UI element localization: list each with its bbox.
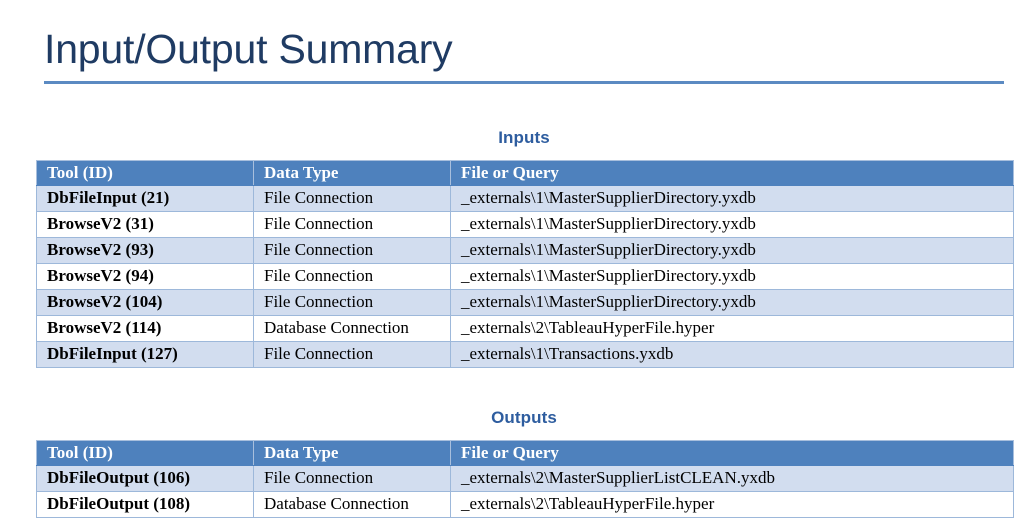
column-header-file: File or Query [451,441,1014,466]
cell-data-type: File Connection [254,212,451,238]
cell-tool: DbFileOutput (108) [37,492,254,518]
title-divider [44,81,1004,84]
cell-file-or-query: _externals\1\MasterSupplierDirectory.yxd… [451,264,1014,290]
column-header-file: File or Query [451,161,1014,186]
inputs-table: Tool (ID) Data Type File or Query DbFile… [36,160,1014,368]
outputs-table: Tool (ID) Data Type File or Query DbFile… [36,440,1014,518]
table-row: BrowseV2 (93) File Connection _externals… [37,238,1014,264]
table-header-row: Tool (ID) Data Type File or Query [37,441,1014,466]
section-caption-outputs: Outputs [36,408,1012,428]
cell-data-type: File Connection [254,466,451,492]
cell-tool: BrowseV2 (104) [37,290,254,316]
cell-data-type: File Connection [254,186,451,212]
table-row: DbFileInput (21) File Connection _extern… [37,186,1014,212]
cell-tool: BrowseV2 (114) [37,316,254,342]
cell-file-or-query: _externals\2\MasterSupplierListCLEAN.yxd… [451,466,1014,492]
cell-tool: DbFileInput (21) [37,186,254,212]
cell-data-type: File Connection [254,342,451,368]
cell-data-type: Database Connection [254,316,451,342]
table-row: DbFileInput (127) File Connection _exter… [37,342,1014,368]
cell-tool: DbFileOutput (106) [37,466,254,492]
table-header-row: Tool (ID) Data Type File or Query [37,161,1014,186]
cell-data-type: File Connection [254,290,451,316]
cell-file-or-query: _externals\1\MasterSupplierDirectory.yxd… [451,290,1014,316]
column-header-data-type: Data Type [254,441,451,466]
cell-file-or-query: _externals\1\MasterSupplierDirectory.yxd… [451,212,1014,238]
table-row: DbFileOutput (108) Database Connection _… [37,492,1014,518]
cell-file-or-query: _externals\2\TableauHyperFile.hyper [451,492,1014,518]
cell-file-or-query: _externals\1\MasterSupplierDirectory.yxd… [451,238,1014,264]
table-row: DbFileOutput (106) File Connection _exte… [37,466,1014,492]
table-row: BrowseV2 (31) File Connection _externals… [37,212,1014,238]
cell-tool: BrowseV2 (31) [37,212,254,238]
table-row: BrowseV2 (114) Database Connection _exte… [37,316,1014,342]
page-title: Input/Output Summary [44,24,452,74]
cell-file-or-query: _externals\2\TableauHyperFile.hyper [451,316,1014,342]
column-header-data-type: Data Type [254,161,451,186]
cell-data-type: File Connection [254,238,451,264]
table-row: BrowseV2 (104) File Connection _external… [37,290,1014,316]
cell-tool: BrowseV2 (93) [37,238,254,264]
cell-data-type: File Connection [254,264,451,290]
cell-file-or-query: _externals\1\Transactions.yxdb [451,342,1014,368]
cell-tool: BrowseV2 (94) [37,264,254,290]
cell-file-or-query: _externals\1\MasterSupplierDirectory.yxd… [451,186,1014,212]
cell-tool: DbFileInput (127) [37,342,254,368]
column-header-tool: Tool (ID) [37,441,254,466]
section-caption-inputs: Inputs [36,128,1012,148]
column-header-tool: Tool (ID) [37,161,254,186]
table-row: BrowseV2 (94) File Connection _externals… [37,264,1014,290]
cell-data-type: Database Connection [254,492,451,518]
